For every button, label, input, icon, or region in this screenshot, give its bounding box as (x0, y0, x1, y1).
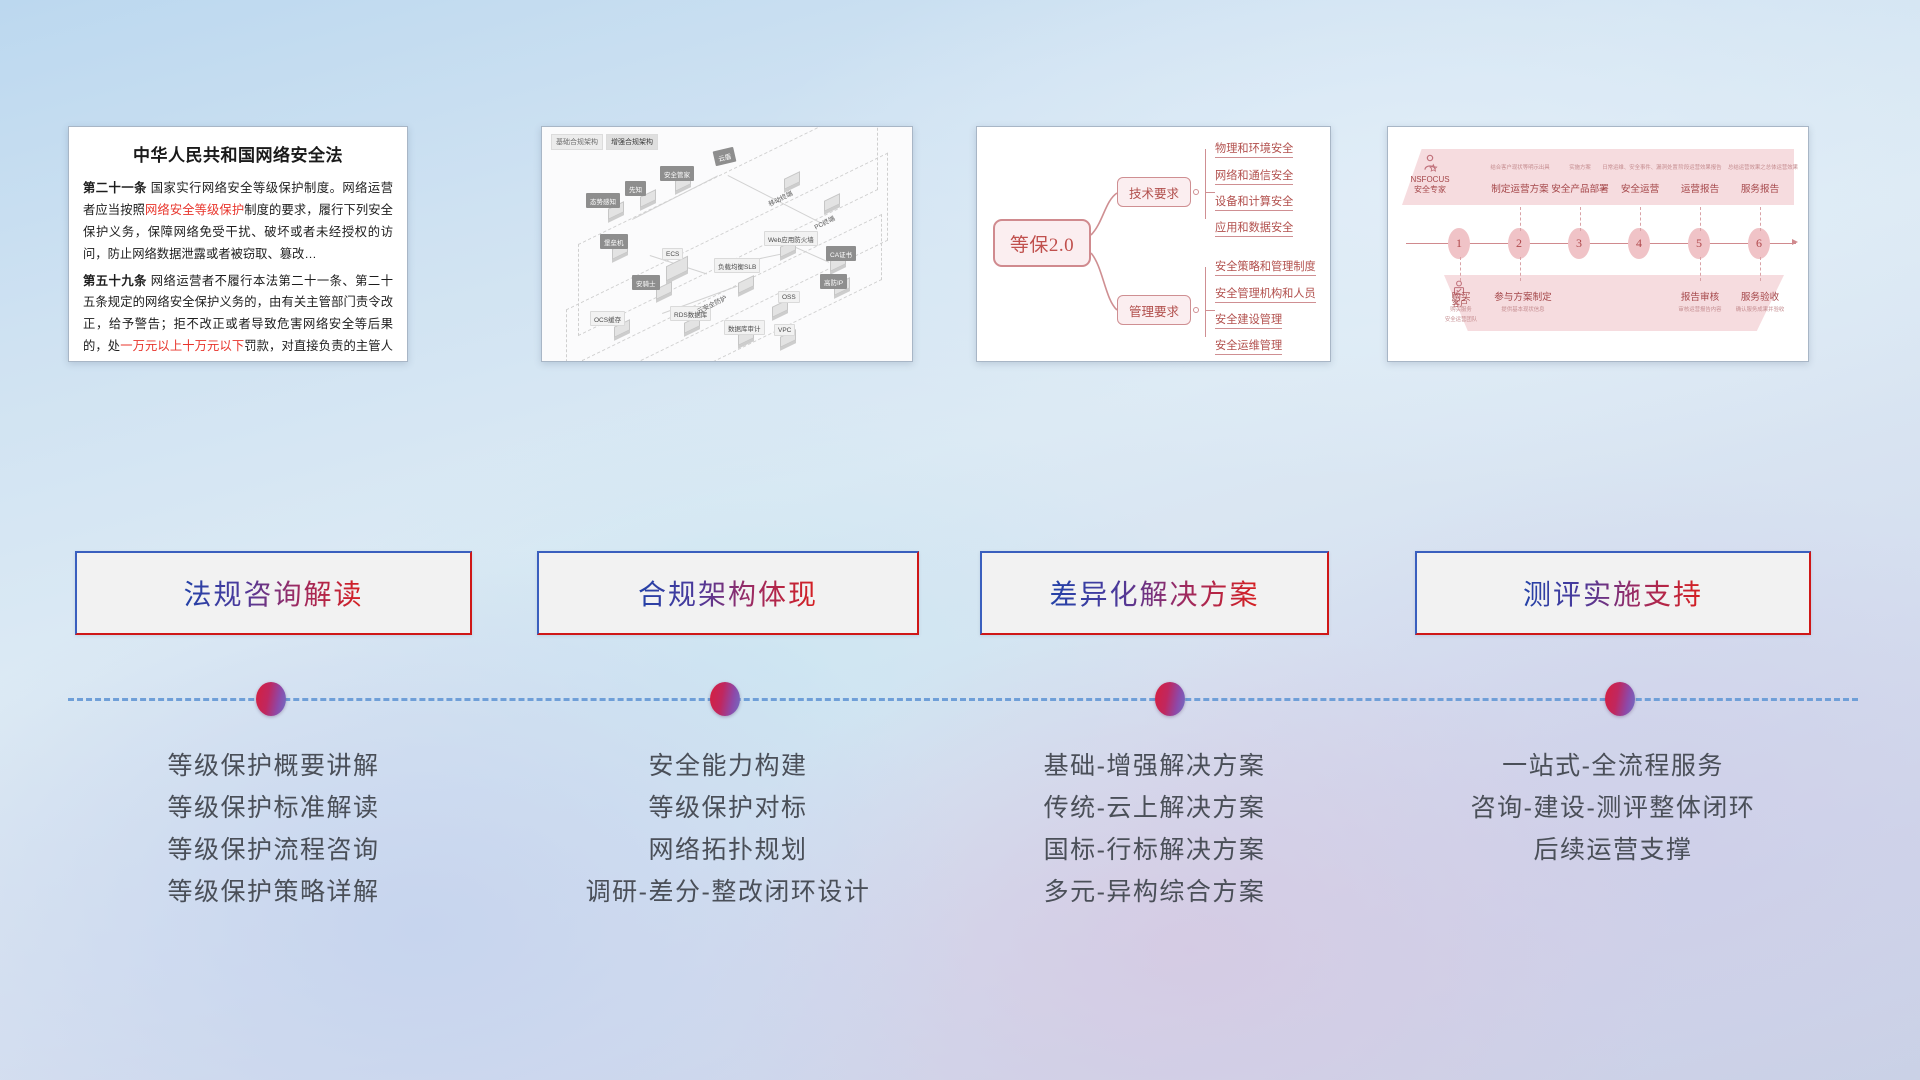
card-dengbao-mindmap[interactable]: 等保2.0 技术要求 管理要求 物理和环境安全 网络和通信安全 设备和计算安全 … (976, 126, 1331, 362)
detail-column-regulation: 等级保护概要讲解 等级保护标准解读 等级保护流程咨询 等级保护策略详解 (75, 745, 472, 913)
detail-line: 咨询-建设-测评整体闭环 (1415, 787, 1811, 829)
timeline-marker-dot[interactable] (1605, 682, 1635, 716)
pillar-button-assessment-support[interactable]: 测评实施支持 (1415, 551, 1811, 635)
pillar-button-label: 测评实施支持 (1523, 573, 1703, 613)
mindmap-hook (1205, 149, 1206, 219)
expert-person-icon (1420, 153, 1440, 173)
detail-line: 等级保护标准解读 (75, 787, 472, 829)
architecture-tabs[interactable]: 基础合规架构 增强合规架构 (551, 134, 658, 150)
mindmap-branch-technical: 技术要求 (1117, 177, 1191, 207)
detail-line: 等级保护概要讲解 (75, 745, 472, 787)
timeline-step-label: 服务验收 (1728, 289, 1792, 303)
pillar-button-label: 合规架构体现 (638, 573, 818, 613)
detail-line: 等级保护策略详解 (75, 871, 472, 913)
card-compliance-architecture[interactable]: 基础合规架构 增强合规架构 云盾 态势感知 先知 安全管家 堡垒机 (541, 126, 913, 362)
timeline-band-bottom (1444, 275, 1784, 331)
arch-node-situational-awareness: 态势感知 (586, 193, 620, 208)
detail-line: 基础-增强解决方案 (980, 745, 1329, 787)
mindmap-hook (1205, 267, 1206, 337)
arch-node-db-audit: 数据库审计 (724, 320, 765, 335)
arch-node-slb: 负载均衡SLB (714, 258, 760, 273)
pillar-button-compliance-architecture[interactable]: 合规架构体现 (537, 551, 919, 635)
timeline-persona-top: NSFOCUS 安全专家 (1404, 175, 1456, 195)
timeline-step-number[interactable]: 1 (1448, 228, 1470, 259)
arch-node-ca-cert: CA证书 (826, 246, 856, 261)
arch-node-waf: Web应用防火墙 (764, 231, 818, 246)
timeline-stem (1700, 207, 1701, 231)
arch-node-ecs: ECS (662, 248, 683, 260)
arch-node-anqishi: 安骑士 (632, 275, 660, 290)
service-pillar-buttons: 法规咨询解读 合规架构体现 差异化解决方案 测评实施支持 (0, 551, 1920, 635)
timeline-step-label: 参与方案制定 (1488, 289, 1558, 303)
timeline-step-label: 服务报告 (1720, 181, 1800, 195)
detail-column-solution: 基础-增强解决方案 传统-云上解决方案 国标-行标解决方案 多元-异构综合方案 (980, 745, 1329, 913)
law-article-number: 第五十九条 (83, 274, 147, 288)
detail-line: 等级保护流程咨询 (75, 829, 472, 871)
timeline-stem (1580, 207, 1581, 231)
architecture-diagram: 基础合规架构 增强合规架构 云盾 态势感知 先知 安全管家 堡垒机 (542, 127, 912, 361)
mindmap-expand-dot[interactable] (1193, 307, 1199, 313)
timeline-stem (1700, 257, 1701, 281)
timeline-step-number[interactable]: 5 (1688, 228, 1710, 259)
timeline-stem (1640, 207, 1641, 231)
timeline-step-number[interactable]: 3 (1568, 228, 1590, 259)
law-title: 中华人民共和国网络安全法 (69, 141, 407, 166)
law-article-number: 第二十一条 (83, 181, 147, 195)
detail-line: 多元-异构综合方案 (980, 871, 1329, 913)
detail-line: 国标-行标解决方案 (980, 829, 1329, 871)
arch-node-vpc: VPC (774, 324, 795, 336)
detail-line: 等级保护对标 (537, 787, 919, 829)
timeline-step-number[interactable]: 2 (1508, 228, 1530, 259)
pillar-button-differentiated-solution[interactable]: 差异化解决方案 (980, 551, 1329, 635)
law-body: 第二十一条 国家实行网络安全等级保护制度。网络运营者应当按照网络安全等级保护制度… (69, 166, 407, 362)
mindmap-leaf: 网络和通信安全 (1215, 167, 1293, 185)
arch-tab-enhanced[interactable]: 增强合规架构 (606, 134, 658, 150)
pillar-button-label: 法规咨询解读 (183, 573, 363, 613)
pillar-button-label: 差异化解决方案 (1049, 573, 1259, 613)
arch-node-ocs-cache: OCS缓存 (590, 311, 625, 326)
mindmap-expand-dot[interactable] (1193, 189, 1199, 195)
timeline-persona-bottom-sub: 安全运营团队 (1432, 315, 1490, 323)
mindmap-tick (1205, 192, 1215, 193)
mindmap-root-node: 等保2.0 (993, 219, 1091, 267)
pillar-button-regulation-consulting[interactable]: 法规咨询解读 (75, 551, 472, 635)
mindmap-leaf: 安全运维管理 (1215, 337, 1282, 355)
timeline-band-top (1402, 149, 1794, 205)
timeline-stem (1760, 207, 1761, 231)
mindmap-leaf: 应用和数据安全 (1215, 219, 1293, 237)
arch-node-oss: OSS (778, 291, 800, 303)
mindmap-branch-management: 管理要求 (1117, 295, 1191, 325)
mindmap-leaf: 安全策略和管理制度 (1215, 258, 1316, 276)
screenshot-cards-row: 中华人民共和国网络安全法 第二十一条 国家实行网络安全等级保护制度。网络运营者应… (0, 126, 1920, 362)
detail-line: 传统-云上解决方案 (980, 787, 1329, 829)
timeline-marker-dot[interactable] (710, 682, 740, 716)
law-paragraph: 第二十一条 国家实行网络安全等级保护制度。网络运营者应当按照网络安全等级保护制度… (83, 178, 393, 266)
mindmap-leaf: 设备和计算安全 (1215, 193, 1293, 211)
arch-node-xianzhi: 先知 (625, 181, 646, 196)
timeline-marker-dot[interactable] (1155, 682, 1185, 716)
timeline-step-sub: 总结运营效果之总体运营效果 (1718, 163, 1808, 171)
service-timeline: NSFOCUS 安全专家 客户 安全运营团队 1 2 3 4 5 6 (1388, 127, 1808, 361)
timeline-arrow-icon (1792, 239, 1798, 245)
mindmap-tick (1205, 310, 1215, 311)
mindmap-leaf: 安全建设管理 (1215, 311, 1282, 329)
law-highlight-text: 五千元以上五万元以下 (108, 361, 231, 362)
law-highlight-text: 一万元以上十万元以下 (120, 339, 244, 353)
timeline-dashed-line (68, 698, 1858, 701)
arch-node-security-butler: 安全管家 (660, 166, 694, 181)
mindmap: 等保2.0 技术要求 管理要求 物理和环境安全 网络和通信安全 设备和计算安全 … (977, 127, 1330, 361)
detail-line: 调研-差分-整改闭环设计 (537, 871, 919, 913)
timeline-step-number[interactable]: 6 (1748, 228, 1770, 259)
timeline-step-sub: 提供基本现状信息 (1486, 305, 1560, 313)
mindmap-leaf: 物理和环境安全 (1215, 140, 1293, 158)
arch-node-anti-ddos-ip: 高防IP (820, 274, 847, 289)
detail-line: 网络拓扑规划 (537, 829, 919, 871)
arch-node-bastion-host: 堡垒机 (600, 234, 628, 249)
arch-node-cloud-threat: 云盾 (713, 147, 737, 166)
timeline-marker-dot[interactable] (256, 682, 286, 716)
detail-column-assessment: 一站式-全流程服务 咨询-建设-测评整体闭环 后续运营支撑 (1415, 745, 1811, 871)
timeline-step-label: 报告审核 (1668, 289, 1732, 303)
detail-line: 一站式-全流程服务 (1415, 745, 1811, 787)
persona-brand: NSFOCUS (1404, 175, 1456, 185)
law-text: 罚款。 (231, 361, 268, 362)
detail-line: 后续运营支撑 (1415, 829, 1811, 871)
timeline-step-sub: 确认服务成果并验收 (1724, 305, 1796, 313)
detail-column-architecture: 安全能力构建 等级保护对标 网络拓扑规划 调研-差分-整改闭环设计 (537, 745, 919, 913)
mindmap-leaf: 安全管理机构和人员 (1215, 285, 1316, 303)
card-nsfocus-timeline[interactable]: NSFOCUS 安全专家 客户 安全运营团队 1 2 3 4 5 6 (1387, 126, 1809, 362)
timeline-stem (1760, 257, 1761, 281)
timeline-step-number[interactable]: 4 (1628, 228, 1650, 259)
timeline-stem (1460, 257, 1461, 281)
timeline-step-sub: 购买服务 (1430, 305, 1492, 313)
law-highlight-text: 网络安全等级保护 (145, 203, 244, 217)
timeline-stem (1520, 207, 1521, 231)
timeline-stem (1520, 257, 1521, 281)
law-paragraph: 第五十九条 网络运营者不履行本法第二十一条、第二十五条规定的网络安全保护义务的，… (83, 271, 393, 363)
detail-line: 安全能力构建 (537, 745, 919, 787)
persona-role: 安全专家 (1404, 185, 1456, 195)
arch-tab-basic[interactable]: 基础合规架构 (551, 134, 603, 150)
card-cybersecurity-law[interactable]: 中华人民共和国网络安全法 第二十一条 国家实行网络安全等级保护制度。网络运营者应… (68, 126, 408, 362)
timeline-step-label: 购买 (1434, 289, 1488, 303)
